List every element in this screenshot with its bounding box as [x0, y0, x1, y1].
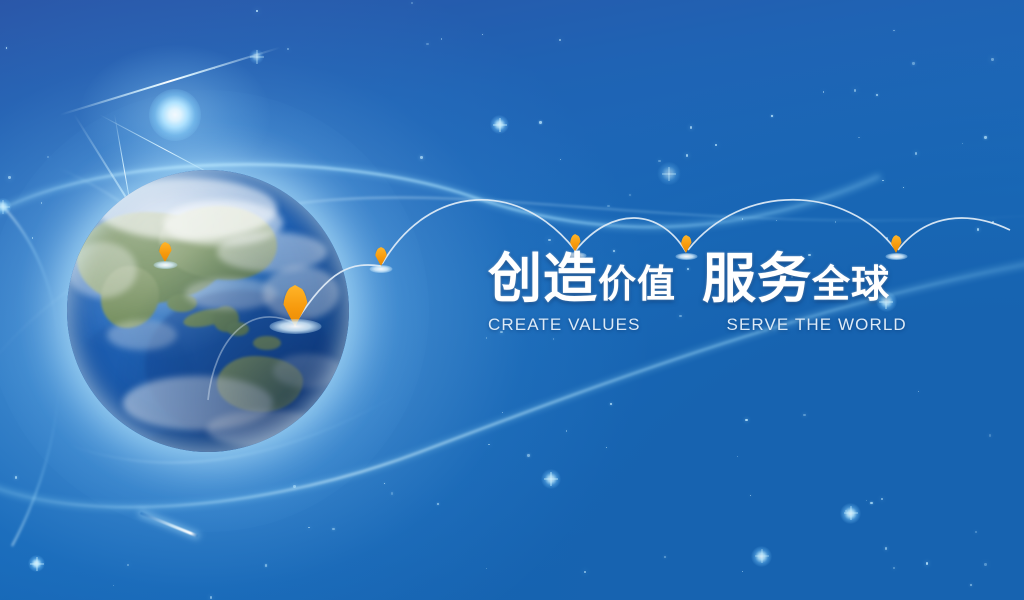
star-dot [984, 136, 986, 138]
star-dot [854, 89, 856, 91]
star-dot [539, 121, 541, 123]
star-dot [915, 152, 917, 154]
star-dot [858, 137, 859, 138]
star-dot [482, 34, 483, 35]
star-dot [486, 337, 487, 338]
arc-2-to-3 [576, 218, 686, 252]
star-dot [835, 221, 836, 222]
star-cross [668, 173, 670, 175]
star-dot [715, 144, 717, 146]
star-dot [977, 228, 979, 230]
star-dot [420, 156, 422, 158]
slogan-two-subtitle: SERVE THE WORLD [727, 315, 907, 335]
star-dot [560, 159, 561, 160]
star-dot [15, 476, 17, 478]
star-dot [984, 563, 986, 565]
banner-canvas: 创造 价值 服务 全球 CREATE VALUES SERVE THE WORL… [0, 0, 1024, 600]
star-dot [113, 585, 114, 586]
star-dot [308, 527, 309, 528]
star-dot [870, 502, 872, 504]
slogan-one-subtitle: CREATE VALUES [488, 315, 641, 335]
star-dot [287, 48, 288, 49]
star-dot [553, 338, 554, 339]
star-dot [559, 39, 561, 41]
star-dot [566, 430, 567, 431]
star-dot [411, 2, 413, 4]
star-cross [36, 563, 38, 565]
star-dot [332, 528, 334, 530]
star-dot [527, 454, 529, 456]
slogan-two-light: 全球 [812, 266, 890, 304]
star-dot [391, 492, 393, 494]
star-dot [8, 176, 10, 178]
slogan-block: 创造 价值 服务 全球 CREATE VALUES SERVE THE WORL… [488, 252, 908, 335]
star-dot [658, 160, 660, 162]
star-dot [885, 547, 887, 549]
star-dot [426, 43, 428, 45]
star-cross [550, 478, 552, 480]
slogan-headline-row: 创造 价值 服务 全球 [488, 252, 908, 306]
star-dot [584, 571, 586, 573]
star-dot [903, 187, 904, 188]
star-dot [742, 218, 743, 219]
star-dot [803, 414, 805, 416]
star-dot [866, 500, 867, 501]
star-cross [761, 555, 763, 557]
star-dot [441, 38, 442, 39]
star-dot [970, 584, 972, 586]
star-dot [882, 180, 883, 181]
star-dot [962, 143, 963, 144]
star-dot [607, 205, 609, 207]
star-dot [606, 447, 607, 448]
slogan-one-bold: 创造 [488, 252, 598, 306]
star-dot [548, 239, 550, 241]
star-dot [384, 483, 385, 484]
star-dot [771, 115, 772, 116]
star-dot [664, 556, 666, 558]
star-dot [6, 47, 7, 48]
marker-globe-asia[interactable] [159, 242, 172, 262]
star-dot [610, 403, 611, 404]
star-dot [886, 237, 888, 239]
star-dot [437, 503, 439, 505]
star-dot [991, 58, 993, 60]
star-dot [989, 434, 991, 436]
star-dot [750, 495, 751, 496]
star-dot [893, 30, 894, 31]
marker-globe-pacific[interactable] [283, 285, 308, 327]
star-dot [893, 567, 895, 569]
star-dot [745, 419, 747, 421]
star-dot [502, 412, 503, 413]
star-dot [737, 456, 738, 457]
slogan-one-light: 价值 [598, 266, 676, 304]
marker-route-4[interactable] [891, 235, 902, 253]
star-cross [2, 206, 4, 208]
star-dot [486, 568, 487, 569]
star-dot [265, 564, 267, 566]
slogan-subtitle-row: CREATE VALUES SERVE THE WORLD [488, 315, 908, 335]
star-dot [881, 498, 882, 499]
star-dot [926, 562, 928, 564]
star-cross [499, 124, 501, 126]
star-dot [912, 62, 914, 64]
star-dot [975, 531, 977, 533]
star-dot [823, 91, 824, 92]
star-dot [686, 154, 688, 156]
marker-route-1[interactable] [375, 247, 387, 266]
slogan-two-bold: 服务 [702, 252, 812, 306]
star-dot [629, 194, 631, 196]
star-dot [876, 94, 878, 96]
star-dot [210, 596, 212, 598]
star-dot [918, 391, 919, 392]
star-dot [992, 221, 994, 223]
star-dot [488, 444, 489, 445]
star-dot [690, 126, 692, 128]
star-dot [127, 564, 129, 566]
star-dot [776, 220, 777, 221]
arc-3-to-4 [688, 200, 896, 250]
star-dot [742, 571, 743, 572]
marker-route-3[interactable] [681, 235, 692, 253]
star-dot [256, 10, 257, 11]
